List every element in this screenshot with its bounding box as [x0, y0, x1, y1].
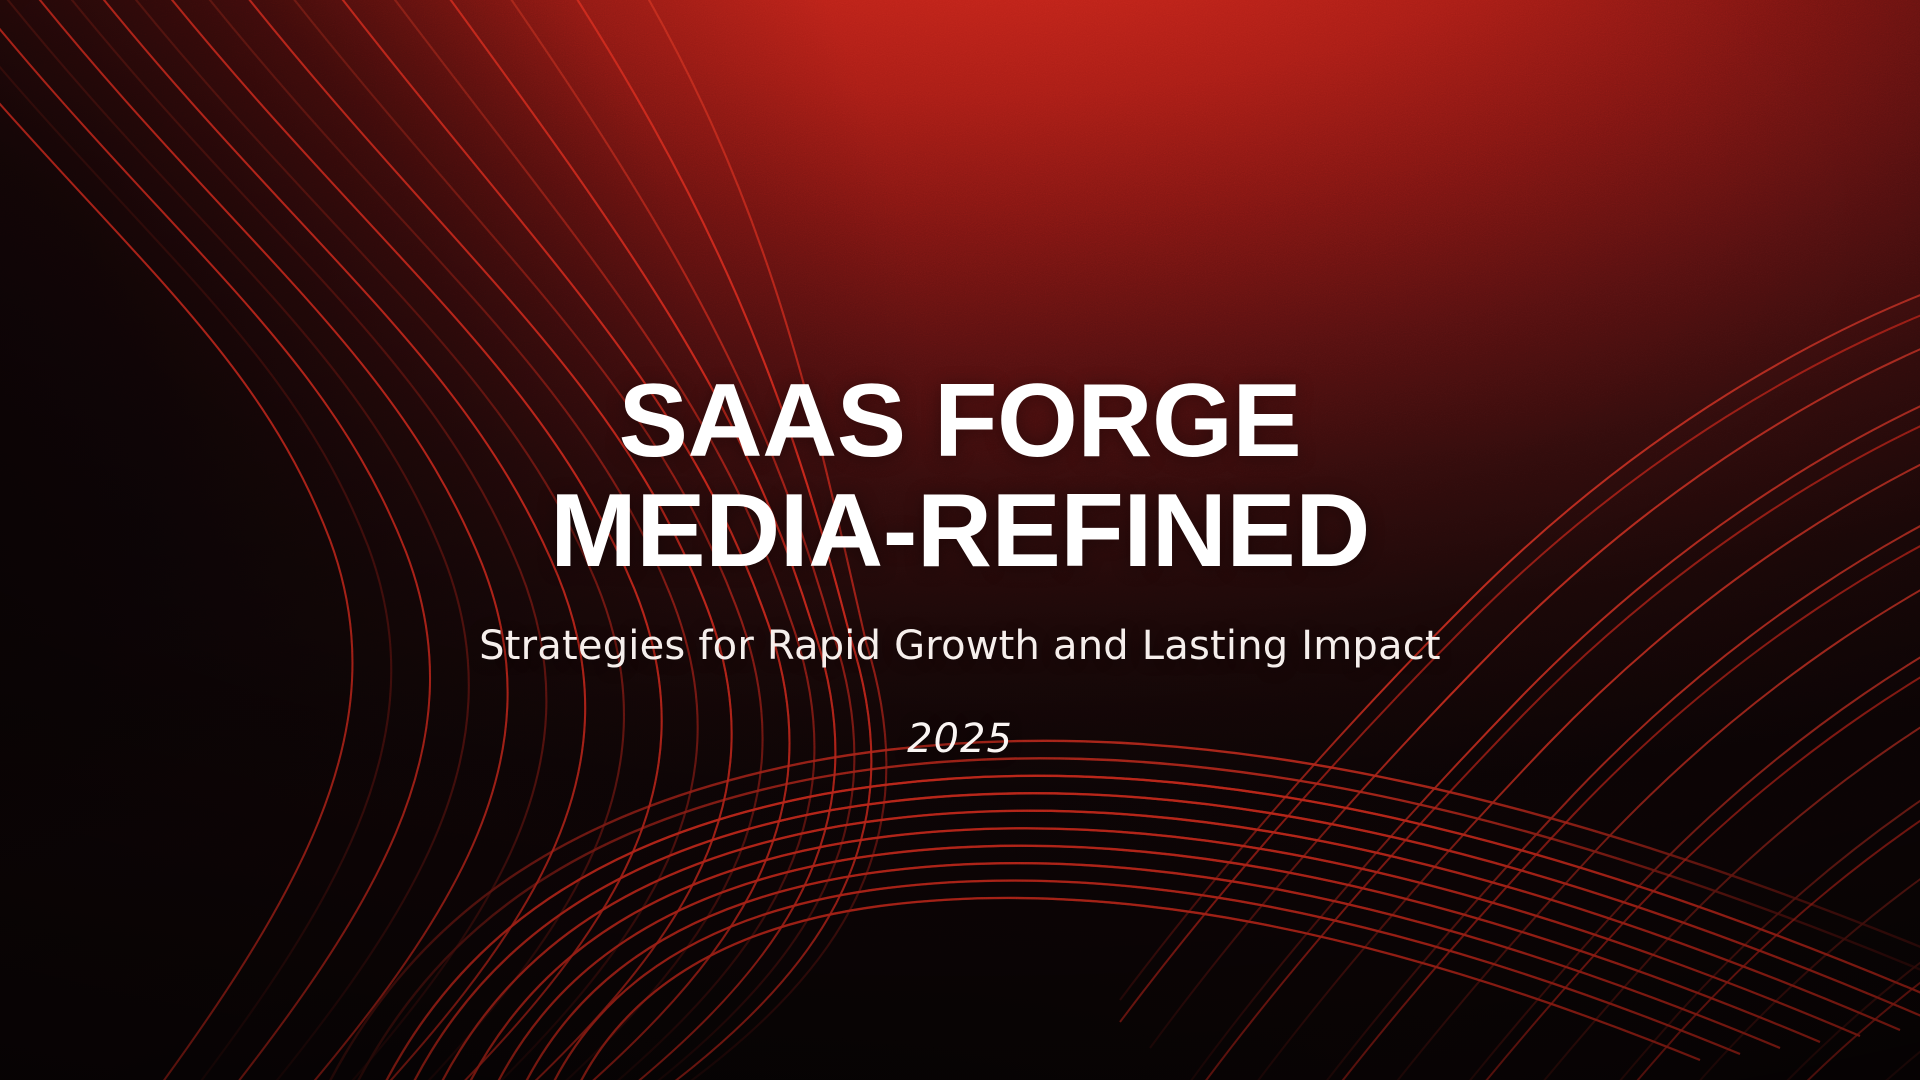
title-line-2: MEDIA-REFINED [550, 476, 1370, 586]
year-label: 2025 [907, 716, 1013, 762]
title-slide: SAAS FORGE MEDIA-REFINED Strategies for … [0, 0, 1920, 1080]
subtitle: Strategies for Rapid Growth and Lasting … [479, 622, 1441, 670]
title-block: SAAS FORGE MEDIA-REFINED Strategies for … [0, 0, 1920, 1080]
title-line-1: SAAS FORGE [550, 366, 1370, 476]
page-title: SAAS FORGE MEDIA-REFINED [550, 366, 1370, 586]
